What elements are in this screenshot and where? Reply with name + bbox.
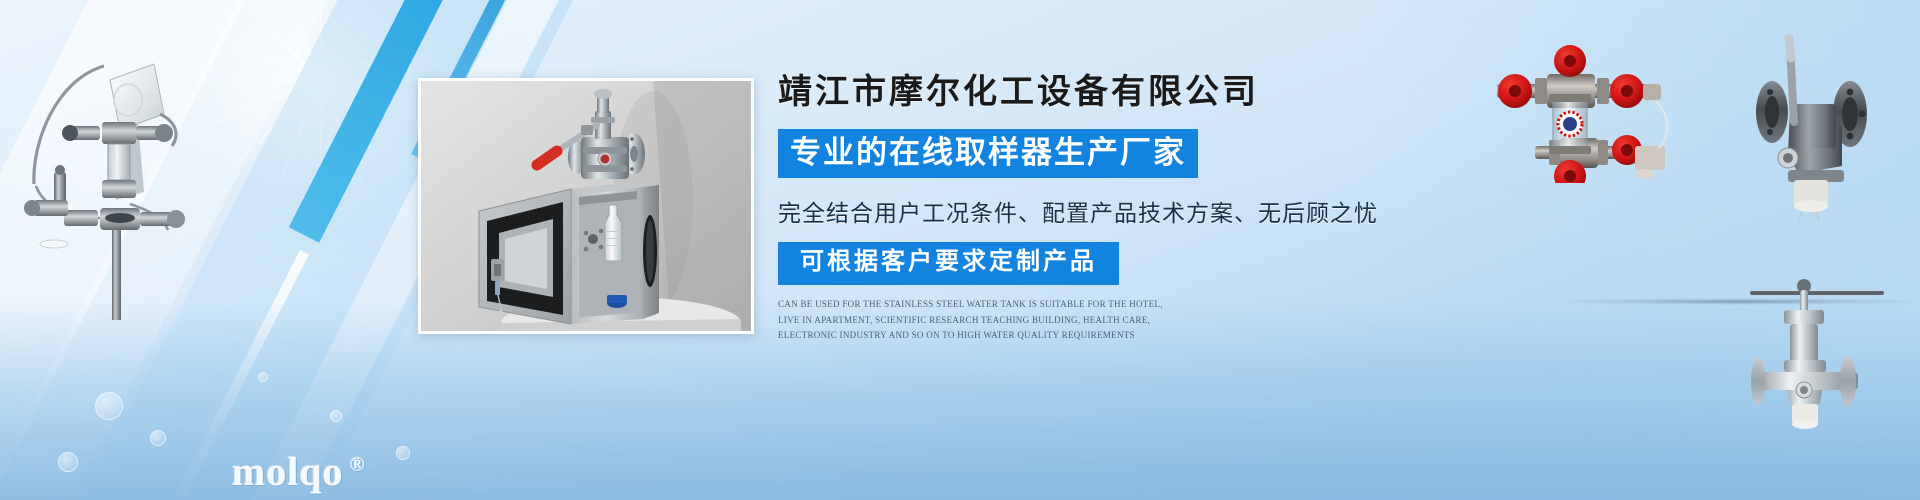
- banner-text-block: 靖江市摩尔化工设备有限公司 专业的在线取样器生产厂家 完全结合用户工况条件、配置…: [778, 72, 1398, 344]
- registered-trademark-icon: ®: [350, 454, 366, 476]
- product-photo: [418, 78, 754, 334]
- cross-manifold-image: [1475, 28, 1705, 183]
- brand-watermark: molqo®: [232, 448, 366, 495]
- promotional-banner: 靖江市摩尔化工设备有限公司 专业的在线取样器生产厂家 完全结合用户工况条件、配置…: [0, 0, 1920, 500]
- bubble: [258, 372, 268, 382]
- company-title: 靖江市摩尔化工设备有限公司: [778, 72, 1398, 115]
- gate-valve-image: [1740, 268, 1920, 453]
- bubble: [150, 430, 166, 446]
- watermark-text: molqo: [232, 449, 344, 494]
- bubble: [95, 392, 123, 420]
- bubble: [396, 446, 410, 460]
- bubble: [330, 410, 342, 422]
- english-description: CAN BE USED FOR THE STAINLESS STEEL WATE…: [778, 297, 1178, 344]
- left-equipment-image: [4, 22, 254, 322]
- headline-band: 专业的在线取样器生产厂家: [778, 129, 1198, 179]
- lever-valve-image: [1690, 18, 1920, 223]
- custom-product-band: 可根据客户要求定制产品: [778, 242, 1119, 285]
- subline-text: 完全结合用户工况条件、配置产品技术方案、无后顾之忧: [778, 194, 1398, 228]
- bubble: [58, 452, 78, 472]
